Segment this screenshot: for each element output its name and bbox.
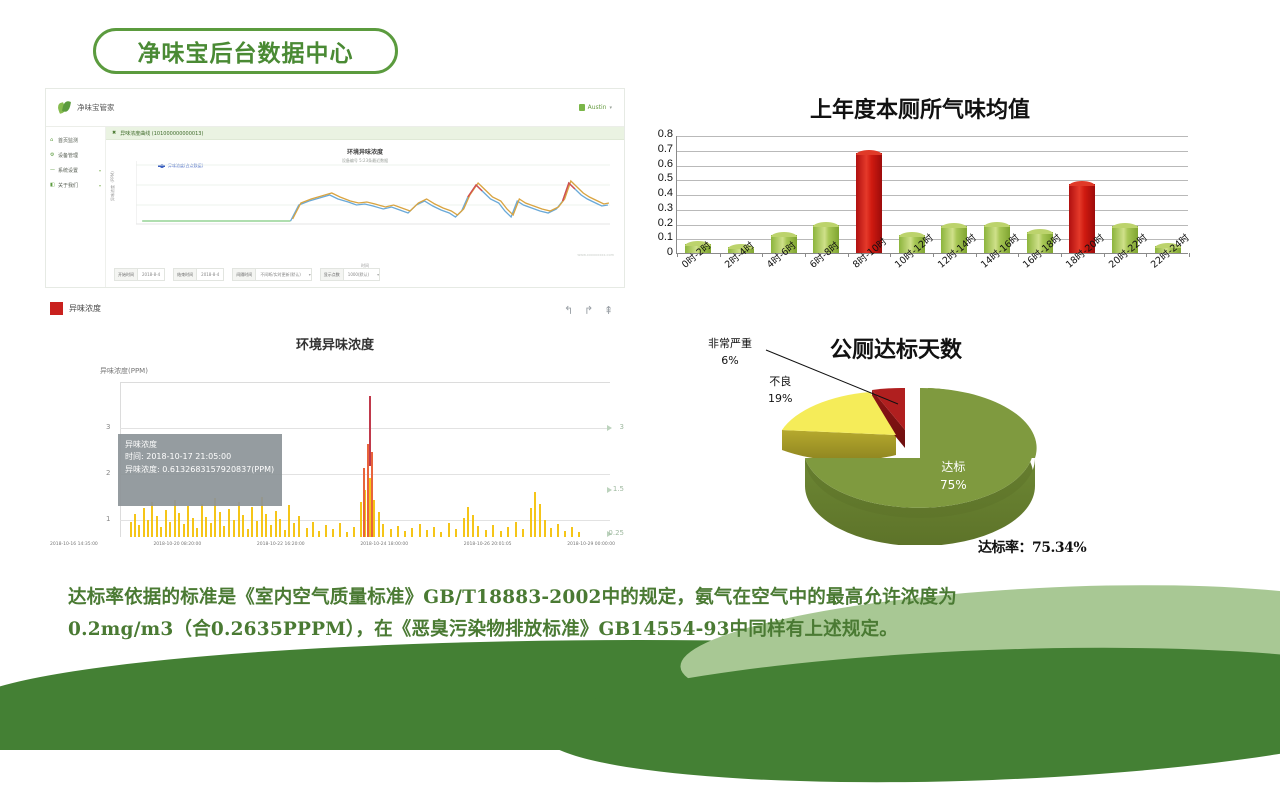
- y-tick-label: 1: [106, 515, 110, 523]
- interval-label: 间隔时间: [233, 269, 256, 280]
- y-tick-label-right: 3: [620, 423, 624, 431]
- gridline: [677, 210, 1188, 211]
- point-count-select[interactable]: 显示点数 1000(默认) ▾: [320, 268, 380, 281]
- x-tick-label: 2018-10-22 16:20:00: [257, 542, 305, 547]
- undo-icon[interactable]: ↰: [564, 306, 575, 317]
- chart-toolbar[interactable]: ↰ ↱ ⇞: [564, 306, 615, 317]
- gridline: [677, 136, 1188, 137]
- x-tick: [1104, 253, 1105, 257]
- app-controls: 开始时间 2018-8-4 结束时间 2018-8-4 间隔时间 不间断/实时更…: [114, 268, 616, 281]
- y-tick-label-right: 1.5: [613, 485, 624, 493]
- app-screenshot: 净味宝管家 Austin ▾ ⌂ 首页监测 ⚙ 设备管理 — 系统设置 ▾ ◧: [45, 88, 625, 288]
- x-tick: [677, 253, 678, 257]
- sidebar-item-devices[interactable]: ⚙ 设备管理: [50, 148, 101, 163]
- y-tick-label-right: 0.25: [608, 529, 624, 537]
- x-tick: [933, 253, 934, 257]
- y-tick-label: 2: [106, 469, 110, 477]
- bar-cap: [984, 222, 1010, 227]
- app-chart-ylabel: 异味浓度（PPM）: [110, 169, 116, 201]
- app-body: ⌂ 首页监测 ⚙ 设备管理 — 系统设置 ▾ ◧ 关于我们 ▾ ✖ 异味浓度曲线…: [46, 127, 624, 287]
- gridline: [677, 195, 1188, 196]
- x-tick: [1018, 253, 1019, 257]
- x-tick-label: 2018-10-24 18:00:00: [360, 542, 408, 547]
- app-chart-watermark: www.xxxxxxxxx.com: [577, 253, 614, 257]
- x-tick-label: 2018-10-26 20:01:05: [464, 542, 512, 547]
- gridline: [677, 180, 1188, 181]
- bar-chart-x-axis: 0时-2时2时-4时4时-6时6时-8时8时-10时10时-12时12时-14时…: [676, 258, 1188, 298]
- chevron-down-icon: ▾: [99, 168, 101, 173]
- download-icon[interactable]: ⇞: [604, 306, 615, 317]
- close-icon[interactable]: ✖: [112, 130, 116, 136]
- y-tick-label: 0.5: [658, 172, 673, 184]
- tooltip-header: 异味浓度: [125, 439, 275, 451]
- y-tick-label: 0: [667, 246, 673, 258]
- arrow-right-icon: [607, 487, 612, 493]
- pie-chart-svg: [700, 330, 1140, 545]
- x-tick: [890, 253, 891, 257]
- y-tick-label: 0.2: [658, 217, 673, 229]
- user-icon: [579, 104, 585, 111]
- legend-label: 异味浓度: [69, 303, 101, 314]
- x-tick: [1146, 253, 1147, 257]
- sidebar-item-label: 首页监测: [58, 137, 78, 144]
- app-header: 净味宝管家 Austin ▾: [46, 89, 624, 127]
- leaf-icon: [58, 101, 71, 114]
- point-count-label: 显示点数: [321, 269, 344, 280]
- app-line-chart-svg: [136, 161, 610, 231]
- user-name: Austin: [588, 104, 607, 111]
- y-tick-label: 0.7: [658, 143, 673, 155]
- pie-chart: 公厕达标天数 非常严重 6%: [700, 330, 1140, 570]
- bar-cap: [856, 150, 882, 155]
- end-time-value[interactable]: 2018-8-4: [197, 269, 223, 280]
- interval-value[interactable]: 不间断/实时更新(默认): [256, 269, 304, 280]
- chevron-down-icon: ▾: [99, 183, 101, 188]
- pie-value-text: 19%: [768, 392, 792, 405]
- end-time-label: 结束时间: [174, 269, 197, 280]
- x-tick-label: 2018-10-16 14:35:00: [50, 542, 98, 547]
- brand-name: 净味宝管家: [77, 102, 115, 113]
- pie-label-severe: 非常严重 6%: [708, 336, 752, 369]
- chevron-down-icon[interactable]: ▾: [309, 272, 311, 277]
- bar-cap: [1069, 181, 1095, 186]
- gridline: [677, 166, 1188, 167]
- sidebar-item-home[interactable]: ⌂ 首页监测: [50, 133, 101, 148]
- pie-label-text: 非常严重: [708, 337, 752, 350]
- lower-chart-legend[interactable]: 异味浓度: [50, 302, 101, 315]
- lower-chart-title: 环境异味浓度: [45, 334, 625, 353]
- point-count-value[interactable]: 1000(默认): [344, 269, 373, 280]
- chevron-down-icon: ▾: [609, 105, 612, 111]
- app-chart-plot: [136, 161, 610, 231]
- gridline: [677, 225, 1188, 226]
- app-chart-title: 环境异味浓度: [106, 147, 624, 156]
- sidebar-item-about[interactable]: ◧ 关于我们 ▾: [50, 178, 101, 193]
- app-sidebar: ⌂ 首页监测 ⚙ 设备管理 — 系统设置 ▾ ◧ 关于我们 ▾: [46, 127, 106, 287]
- y-tick-label: 0.1: [658, 231, 673, 243]
- lower-chart-card: 异味浓度 ↰ ↱ ⇞ 环境异味浓度 异味浓度(PPM) 3 2 1 3 1.5 …: [45, 296, 625, 564]
- y-tick-label: 0.3: [658, 202, 673, 214]
- x-tick: [1189, 253, 1190, 257]
- start-time-field[interactable]: 开始时间 2018-8-4: [114, 268, 165, 281]
- tooltip-time: 时间: 2018-10-17 21:05:00: [125, 451, 275, 463]
- page-title: 净味宝后台数据中心: [93, 28, 398, 74]
- pass-rate-annotation: 达标率：75.34%: [978, 537, 1086, 557]
- footer-note-line: 0.2mg/m3（合0.2635PPPM），在《恶臭污染物排放标准》GB1455…: [68, 614, 1198, 646]
- pie-label-poor: 不良 19%: [768, 374, 792, 407]
- x-tick: [720, 253, 721, 257]
- interval-select[interactable]: 间隔时间 不间断/实时更新(默认) ▾: [232, 268, 311, 281]
- tab-bar[interactable]: ✖ 异味浓度曲线 (101000000000013): [106, 127, 624, 140]
- gear-icon: ⚙: [50, 153, 55, 158]
- page-title-text: 净味宝后台数据中心: [138, 34, 354, 68]
- arrow-right-icon: [607, 425, 612, 431]
- y-tick-label: 0.4: [658, 187, 673, 199]
- pie-value-text: 75%: [940, 478, 967, 492]
- sidebar-item-label: 系统设置: [58, 167, 78, 174]
- x-tick-label: 2018-10-20 08:20:00: [153, 542, 201, 547]
- pie-label-text: 达标: [941, 460, 965, 474]
- minus-icon: —: [50, 168, 55, 173]
- chart-tooltip: 异味浓度 时间: 2018-10-17 21:05:00 异味浓度: 0.613…: [118, 434, 282, 506]
- info-icon: ◧: [50, 183, 55, 188]
- pie-label-pass: 达标 75%: [940, 458, 967, 494]
- x-tick: [1061, 253, 1062, 257]
- lower-chart-ylabel: 异味浓度(PPM): [100, 366, 148, 376]
- chevron-down-icon[interactable]: ▾: [377, 272, 379, 277]
- tooltip-value: 异味浓度: 0.6132683157920837(PPM): [125, 464, 275, 476]
- lower-chart-x-axis: 2018-10-16 14:35:00 2018-10-20 08:20:00 …: [50, 542, 615, 547]
- x-tick: [762, 253, 763, 257]
- gridline: [677, 151, 1188, 152]
- start-time-value[interactable]: 2018-8-4: [138, 269, 164, 280]
- bar-cap: [813, 222, 839, 227]
- end-time-field[interactable]: 结束时间 2018-8-4: [173, 268, 224, 281]
- footer-note: 达标率依据的标准是《室内空气质量标准》GB/T18883-2002中的规定，氨气…: [68, 582, 1198, 646]
- y-tick-label: 0.8: [658, 128, 673, 140]
- footer-note-line: 达标率依据的标准是《室内空气质量标准》GB/T18883-2002中的规定，氨气…: [68, 582, 1198, 614]
- user-menu[interactable]: Austin ▾: [579, 104, 612, 111]
- pie-label-text: 不良: [769, 375, 791, 388]
- bar-chart-title: 上年度本厕所气味均值: [636, 92, 1204, 124]
- bar-cap: [771, 232, 797, 237]
- sidebar-item-label: 关于我们: [58, 182, 78, 189]
- app-main: ✖ 异味浓度曲线 (101000000000013) 环境异味浓度 设备编号 5…: [106, 127, 624, 287]
- x-tick-label: 2018-10-29 00:00:00: [567, 542, 615, 547]
- home-icon: ⌂: [50, 138, 55, 143]
- tab-label: 异味浓度曲线 (101000000000013): [120, 130, 203, 137]
- y-tick-label: 3: [106, 423, 110, 431]
- x-tick: [976, 253, 977, 257]
- sidebar-item-settings[interactable]: — 系统设置 ▾: [50, 163, 101, 178]
- bar-cap: [941, 223, 967, 228]
- start-time-label: 开始时间: [115, 269, 138, 280]
- x-tick: [848, 253, 849, 257]
- sidebar-item-label: 设备管理: [58, 152, 78, 159]
- pie-value-text: 6%: [721, 354, 738, 367]
- bar-chart: 上年度本厕所气味均值 00.10.20.30.40.50.60.70.8 0时-…: [636, 92, 1204, 292]
- legend-swatch-icon: [50, 302, 63, 315]
- y-tick-label: 0.6: [658, 158, 673, 170]
- redo-icon[interactable]: ↱: [584, 306, 595, 317]
- bar-cap: [1112, 223, 1138, 228]
- x-tick: [805, 253, 806, 257]
